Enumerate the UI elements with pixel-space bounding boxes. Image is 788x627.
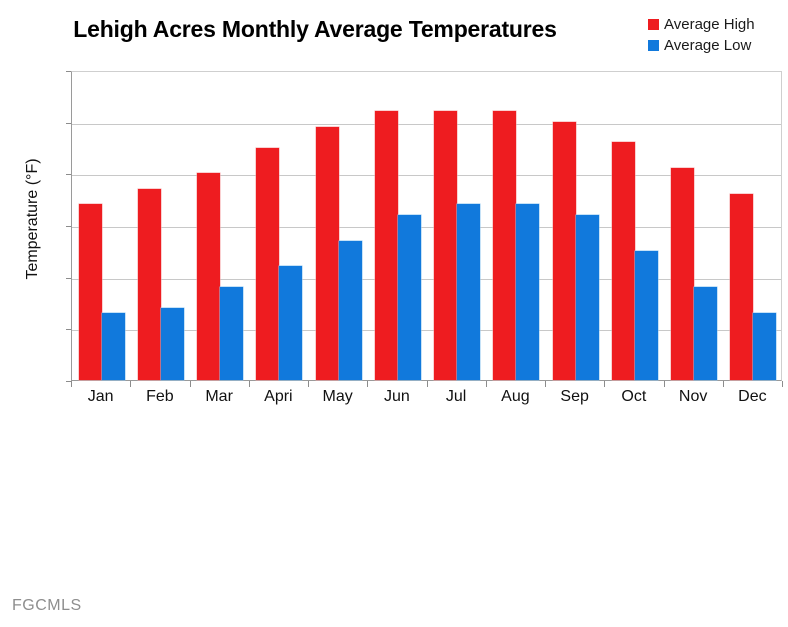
temperature-bar-chart: Lehigh Acres Monthly Average Temperature… [0,0,788,627]
bar-average-low-apri [279,266,302,380]
bars-layer [72,72,781,380]
plot-area [71,71,782,381]
x-tick-mark [723,381,724,387]
x-tick-mark [604,381,605,387]
bar-average-low-jun [398,215,421,380]
legend-label-average-low: Average Low [664,38,751,53]
x-tick-mark [367,381,368,387]
bar-average-low-jul [457,204,480,380]
x-tick-mark [664,381,665,387]
x-tick-mark [427,381,428,387]
bar-average-low-dec [753,313,776,380]
y-axis-title: Temperature (°F) [24,124,42,314]
y-tick-mark [66,226,71,227]
bar-average-high-oct [612,142,635,380]
x-tick-label-dec: Dec [717,389,787,405]
bar-average-low-oct [635,251,658,380]
legend-item-average-high: Average High [648,14,788,35]
legend-swatch-average-low [648,40,659,51]
x-tick-mark [249,381,250,387]
legend-item-average-low: Average Low [648,35,788,56]
bar-average-high-sep [553,122,576,380]
x-tick-mark [71,381,72,387]
bar-average-high-jan [79,204,102,380]
bar-average-high-feb [138,189,161,380]
bar-average-low-nov [694,287,717,380]
chart-title: Lehigh Acres Monthly Average Temperature… [0,16,630,43]
bar-average-high-nov [671,168,694,380]
x-tick-mark [130,381,131,387]
x-tick-mark [486,381,487,387]
bar-average-low-sep [576,215,599,380]
bar-average-high-apri [256,148,279,381]
y-tick-mark [66,329,71,330]
x-tick-mark [190,381,191,387]
y-tick-mark [66,278,71,279]
y-tick-mark [66,71,71,72]
bar-average-low-feb [161,308,184,380]
bar-average-high-jul [434,111,457,380]
bar-average-high-may [316,127,339,380]
x-tick-mark [545,381,546,387]
legend-swatch-average-high [648,19,659,30]
y-tick-mark [66,174,71,175]
chart-legend: Average High Average Low [648,14,788,56]
x-tick-mark [308,381,309,387]
bar-average-high-mar [197,173,220,380]
bar-average-high-jun [375,111,398,380]
bar-average-high-aug [493,111,516,380]
legend-label-average-high: Average High [664,17,755,32]
bar-average-low-mar [220,287,243,380]
bar-average-high-dec [730,194,753,380]
bar-average-low-aug [516,204,539,380]
bar-average-low-may [339,241,362,381]
y-tick-mark [66,123,71,124]
x-tick-mark [782,381,783,387]
watermark: FGCMLS [12,597,82,615]
bar-average-low-jan [102,313,125,380]
